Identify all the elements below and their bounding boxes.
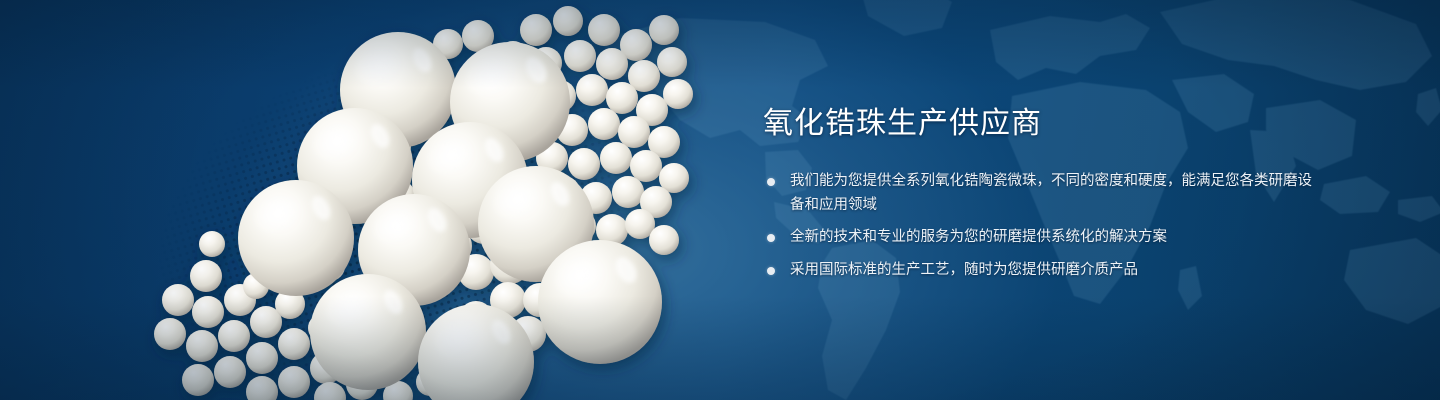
list-item-label: 我们能为您提供全系列氧化锆陶瓷微珠，不同的密度和硬度，能满足您各类研磨设备和应用… [790,173,1312,213]
list-item-label: 全新的技术和专业的服务为您的研磨提供系统化的解决方案 [790,229,1167,245]
bullet-dot-icon [767,267,775,275]
hero-banner: 氧化锆珠生产供应商 我们能为您提供全系列氧化锆陶瓷微珠，不同的密度和硬度，能满足… [0,0,1440,400]
list-item: 采用国际标准的生产工艺，随时为您提供研磨介质产品 [763,259,1323,283]
banner-copy-block: 氧化锆珠生产供应商 我们能为您提供全系列氧化锆陶瓷微珠，不同的密度和硬度，能满足… [763,104,1323,282]
list-item: 我们能为您提供全系列氧化锆陶瓷微珠，不同的密度和硬度，能满足您各类研磨设备和应用… [763,170,1323,217]
list-item-label: 采用国际标准的生产工艺，随时为您提供研磨介质产品 [790,262,1138,278]
feature-list: 我们能为您提供全系列氧化锆陶瓷微珠，不同的密度和硬度，能满足您各类研磨设备和应用… [763,170,1323,282]
bullet-dot-icon [767,178,775,186]
bullet-dot-icon [767,234,775,242]
list-item: 全新的技术和专业的服务为您的研磨提供系统化的解决方案 [763,226,1323,250]
page-title: 氧化锆珠生产供应商 [763,104,1323,144]
